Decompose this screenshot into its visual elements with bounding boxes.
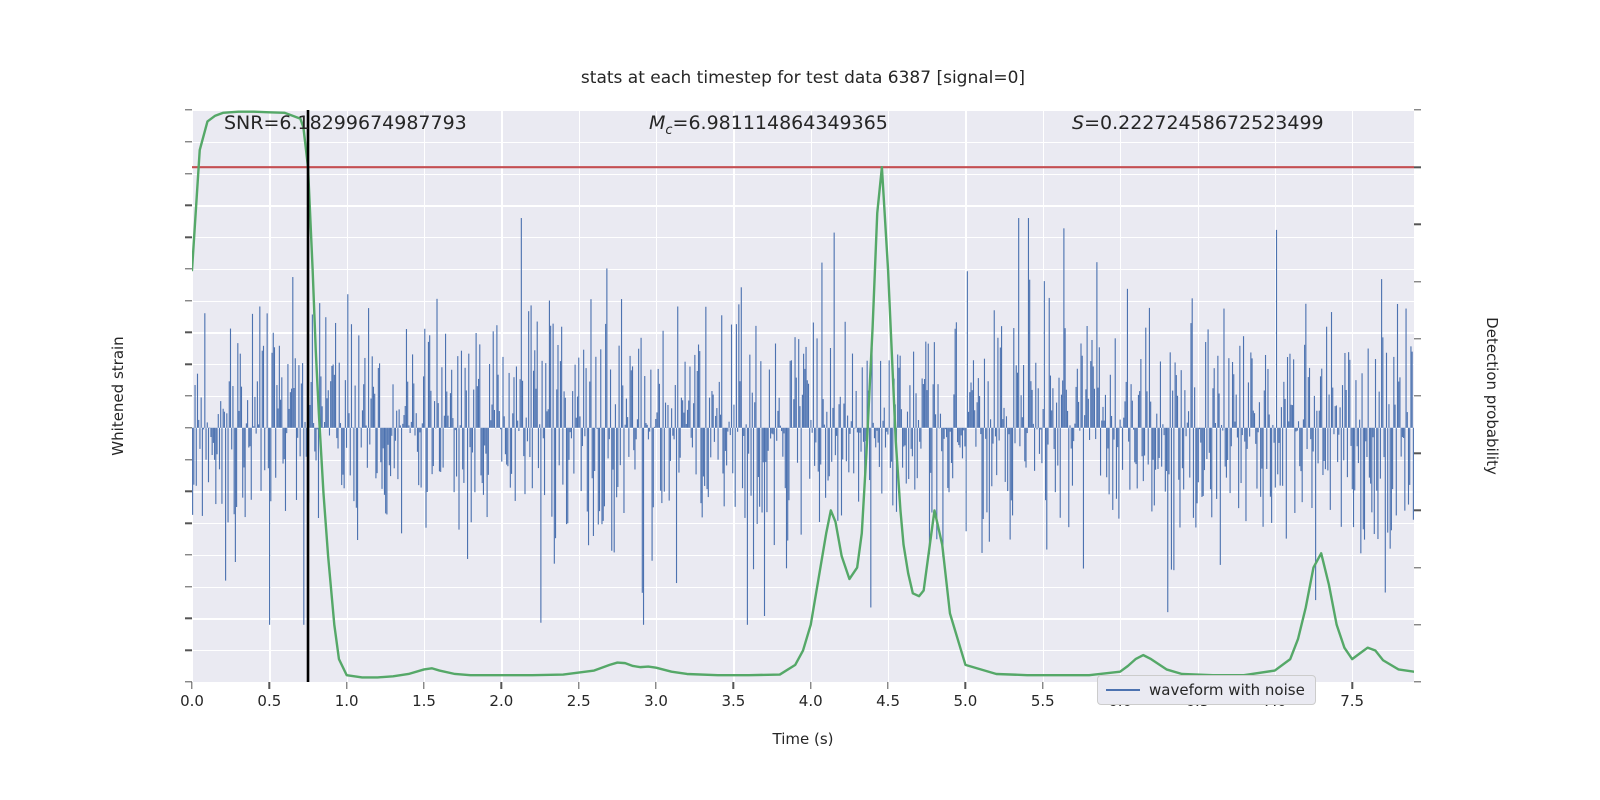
waveform-sample	[1238, 428, 1239, 508]
waveform-sample	[1084, 415, 1085, 428]
waveform-sample	[797, 428, 798, 463]
legend: waveform with noise	[1097, 675, 1316, 705]
waveform-sample	[1138, 395, 1139, 428]
waveform-sample	[731, 325, 732, 428]
waveform-sample	[1093, 366, 1094, 427]
waveform-sample	[485, 428, 486, 454]
waveform-sample	[791, 360, 792, 427]
waveform-sample	[928, 344, 929, 428]
waveform-sample	[1032, 390, 1033, 428]
waveform-sample	[692, 428, 693, 448]
waveform-sample	[641, 338, 642, 428]
waveform-sample	[1198, 428, 1199, 483]
waveform-sample	[606, 268, 607, 427]
waveform-sample	[617, 428, 618, 487]
waveform-sample	[262, 351, 263, 428]
waveform-sample	[1269, 414, 1270, 427]
waveform-sample	[1368, 349, 1369, 428]
waveform-sample	[438, 403, 439, 428]
waveform-sample	[589, 382, 590, 428]
waveform-sample	[962, 428, 963, 459]
waveform-sample	[396, 411, 397, 428]
waveform-sample	[1013, 328, 1014, 428]
waveform-sample	[1090, 361, 1091, 428]
x-tick-label: 1.5	[412, 692, 436, 710]
waveform-sample	[506, 428, 507, 465]
waveform-sample	[1369, 428, 1370, 478]
waveform-sample	[462, 428, 463, 470]
waveform-sample	[1392, 428, 1393, 489]
waveform-sample	[1014, 428, 1015, 443]
waveform-sample	[1264, 390, 1265, 427]
waveform-sample	[1018, 218, 1019, 428]
waveform-sample	[1242, 428, 1243, 435]
waveform-sample	[966, 428, 967, 532]
waveform-sample	[595, 357, 596, 428]
detection-probability-series	[192, 112, 1414, 678]
waveform-sample	[1001, 326, 1002, 428]
waveform-sample	[207, 422, 208, 427]
waveform-sample	[1275, 428, 1276, 488]
waveform-sample	[1085, 389, 1086, 427]
waveform-sample	[1330, 428, 1331, 510]
waveform-sample	[1298, 421, 1299, 428]
waveform-sample	[198, 420, 199, 428]
waveform-sample	[996, 428, 997, 475]
waveform-sample	[1028, 218, 1029, 428]
waveform-sample	[1069, 425, 1070, 427]
waveform-sample	[304, 422, 305, 428]
waveform-sample	[550, 326, 551, 428]
waveform-sample	[1300, 428, 1301, 471]
waveform-sample	[564, 391, 565, 427]
waveform-sample	[946, 428, 947, 437]
waveform-sample	[528, 311, 529, 428]
x-tick-label: 4.0	[799, 692, 823, 710]
waveform-sample	[570, 428, 571, 432]
waveform-sample	[1337, 428, 1338, 462]
waveform-sample	[711, 391, 712, 428]
waveform-sample	[249, 428, 250, 446]
y-tick-right	[1414, 338, 1421, 339]
waveform-sample	[1303, 419, 1304, 427]
waveform-sample	[287, 364, 288, 428]
waveform-sample	[678, 428, 679, 473]
waveform-sample	[724, 428, 725, 507]
waveform-sample	[433, 428, 434, 466]
waveform-sample	[1003, 408, 1004, 428]
waveform-sample	[1122, 428, 1123, 470]
waveform-sample	[390, 428, 391, 476]
waveform-sample	[835, 428, 836, 455]
waveform-sample	[504, 416, 505, 427]
waveform-sample	[964, 428, 965, 447]
waveform-sample	[1402, 428, 1403, 437]
plot-canvas	[192, 110, 1414, 682]
waveform-sample	[780, 426, 781, 428]
waveform-sample	[463, 428, 464, 483]
waveform-sample	[416, 413, 417, 428]
waveform-sample	[614, 428, 615, 553]
waveform-sample	[1223, 309, 1224, 428]
waveform-sample	[770, 428, 771, 439]
waveform-sample	[285, 428, 286, 511]
annotation-s-eq: =	[1084, 112, 1100, 134]
waveform-sample	[451, 370, 452, 428]
waveform-sample	[1219, 394, 1220, 428]
waveform-sample	[363, 384, 364, 428]
waveform-sample	[1112, 428, 1113, 510]
waveform-sample	[495, 428, 496, 429]
waveform-sample	[440, 428, 441, 472]
waveform-sample	[1314, 396, 1315, 428]
waveform-sample	[682, 400, 683, 428]
waveform-sample	[401, 428, 402, 534]
y-tick-left	[185, 300, 192, 301]
waveform-sample	[642, 428, 643, 593]
waveform-sample	[1233, 374, 1234, 428]
waveform-sample	[445, 334, 446, 428]
waveform-sample	[1409, 428, 1410, 485]
waveform-sample	[592, 428, 593, 478]
waveform-sample	[1340, 407, 1341, 427]
waveform-sample	[516, 366, 517, 427]
waveform-sample	[1096, 262, 1097, 428]
waveform-sample	[532, 428, 533, 488]
waveform-sample	[511, 428, 512, 474]
x-tick	[501, 682, 502, 689]
waveform-sample	[1404, 428, 1405, 511]
waveform-sample	[1302, 428, 1303, 502]
waveform-sample	[1206, 428, 1207, 459]
waveform-sample	[414, 428, 415, 436]
waveform-sample	[1289, 354, 1290, 428]
waveform-sample	[1088, 399, 1089, 428]
waveform-sample	[501, 428, 502, 462]
x-tick	[346, 682, 347, 689]
waveform-sample	[1145, 328, 1146, 428]
waveform-sample	[315, 428, 316, 461]
waveform-sample	[460, 425, 461, 428]
waveform-sample	[323, 428, 324, 429]
waveform-sample	[466, 390, 467, 427]
waveform-sample	[394, 428, 395, 469]
waveform-sample	[1250, 352, 1251, 427]
legend-line-icon	[1106, 689, 1140, 691]
waveform-sample	[577, 397, 578, 428]
x-tick-label: 3.5	[721, 692, 745, 710]
waveform-sample	[953, 394, 954, 427]
waveform-sample	[218, 414, 219, 428]
waveform-sample	[546, 411, 547, 427]
waveform-sample	[1178, 428, 1179, 480]
waveform-sample	[1248, 382, 1249, 427]
waveform-sample	[807, 380, 808, 428]
waveform-sample	[224, 412, 225, 428]
waveform-sample	[771, 428, 772, 434]
waveform-sample	[306, 428, 307, 457]
waveform-sample	[1150, 402, 1151, 428]
annotation-mc-label: M	[649, 112, 665, 134]
waveform-sample	[1332, 388, 1333, 428]
waveform-sample	[209, 428, 210, 429]
waveform-sample	[746, 424, 747, 427]
waveform-sample	[1045, 428, 1046, 500]
waveform-sample	[345, 380, 346, 428]
waveform-sample	[736, 324, 737, 428]
waveform-sample	[350, 428, 351, 476]
waveform-sample	[328, 390, 329, 428]
waveform-sample	[814, 428, 815, 466]
waveform-sample	[312, 314, 313, 427]
waveform-sample	[1176, 375, 1177, 428]
waveform-sample	[230, 329, 231, 428]
waveform-sample	[804, 369, 805, 428]
waveform-sample	[355, 386, 356, 428]
waveform-sample	[301, 383, 302, 427]
waveform-sample	[1299, 428, 1300, 466]
waveform-sample	[1280, 428, 1281, 486]
waveform-sample	[240, 354, 241, 428]
waveform-sample	[1255, 428, 1256, 444]
waveform-sample	[992, 428, 993, 444]
waveform-sample	[1387, 428, 1388, 533]
waveform-sample	[1030, 381, 1031, 428]
waveform-sample	[889, 360, 890, 427]
waveform-sample	[975, 428, 976, 447]
waveform-sample	[1205, 342, 1206, 428]
waveform-sample	[1190, 323, 1191, 428]
waveform-sample	[1023, 365, 1024, 428]
waveform-sample	[567, 428, 568, 524]
waveform-sample	[356, 428, 357, 508]
waveform-sample	[744, 428, 745, 518]
waveform-sample	[1296, 428, 1297, 432]
waveform-sample	[1286, 428, 1287, 539]
waveform-sample	[906, 428, 907, 484]
waveform-sample	[661, 428, 662, 503]
waveform-sample	[858, 428, 859, 502]
waveform-sample	[713, 395, 714, 428]
waveform-sample	[248, 428, 249, 448]
waveform-sample	[836, 428, 837, 436]
waveform-sample	[1374, 428, 1375, 534]
waveform-sample	[359, 428, 360, 429]
waveform-sample	[942, 428, 943, 557]
waveform-sample	[805, 347, 806, 428]
waveform-sample	[1276, 230, 1277, 428]
waveform-sample	[347, 294, 348, 428]
waveform-sample	[1209, 428, 1210, 453]
annotation-snr-label: SNR=	[224, 112, 279, 134]
waveform-sample	[1347, 428, 1348, 477]
waveform-sample	[512, 413, 513, 427]
waveform-sample	[648, 428, 649, 440]
waveform-sample	[212, 428, 213, 455]
waveform-sample	[594, 428, 595, 471]
waveform-sample	[947, 428, 948, 488]
waveform-sample	[281, 377, 282, 427]
waveform-sample	[978, 378, 979, 428]
waveform-sample	[902, 428, 903, 468]
waveform-sample	[674, 428, 675, 440]
waveform-sample	[974, 410, 975, 428]
waveform-sample	[549, 301, 550, 428]
waveform-sample	[645, 423, 646, 428]
waveform-sample	[837, 428, 838, 521]
waveform-sample	[665, 403, 666, 428]
waveform-sample	[890, 428, 891, 468]
waveform-sample	[386, 428, 387, 515]
waveform-sample	[1353, 428, 1354, 527]
waveform-sample	[331, 366, 332, 428]
waveform-sample	[801, 428, 802, 535]
waveform-sample	[729, 422, 730, 428]
waveform-sample	[298, 365, 299, 428]
waveform-sample	[208, 428, 209, 482]
waveform-sample	[1247, 428, 1248, 449]
waveform-sample	[361, 428, 362, 448]
waveform-sample	[1249, 428, 1250, 437]
waveform-sample	[1271, 428, 1272, 523]
waveform-sample	[199, 428, 200, 449]
waveform-sample	[870, 428, 871, 608]
waveform-sample	[732, 428, 733, 474]
waveform-sample	[779, 398, 780, 428]
waveform-sample	[1153, 428, 1154, 460]
waveform-sample	[660, 428, 661, 491]
waveform-sample	[473, 390, 474, 428]
waveform-sample	[1111, 416, 1112, 428]
waveform-sample	[1116, 428, 1117, 499]
waveform-sample	[300, 428, 301, 457]
x-tick	[191, 682, 192, 689]
waveform-sample	[1270, 428, 1271, 497]
waveform-sample	[427, 428, 428, 492]
waveform-sample	[544, 428, 545, 495]
waveform-sample	[700, 428, 701, 503]
waveform-sample	[790, 361, 791, 428]
waveform-sample	[719, 382, 720, 428]
annotation-mc-eq: =	[673, 112, 689, 134]
waveform-sample	[1401, 428, 1402, 457]
waveform-sample	[851, 421, 852, 428]
waveform-sample	[1239, 346, 1240, 428]
waveform-sample	[1005, 428, 1006, 482]
waveform-sample	[201, 397, 202, 427]
x-tick-label: 7.5	[1340, 692, 1364, 710]
waveform-sample	[560, 361, 561, 428]
waveform-sample	[1222, 428, 1223, 431]
waveform-sample	[691, 428, 692, 438]
waveform-sample	[990, 419, 991, 428]
waveform-sample	[776, 428, 777, 441]
waveform-sample	[903, 428, 904, 447]
waveform-sample	[709, 398, 710, 428]
waveform-sample	[1365, 428, 1366, 442]
waveform-sample	[812, 428, 813, 433]
x-tick-label: 4.5	[876, 692, 900, 710]
waveform-sample	[878, 428, 879, 443]
waveform-sample	[667, 405, 668, 428]
waveform-sample	[620, 428, 621, 465]
waveform-sample	[1307, 428, 1308, 449]
waveform-sample	[599, 428, 600, 511]
waveform-sample	[510, 428, 511, 488]
x-tick	[269, 682, 270, 689]
waveform-sample	[1326, 327, 1327, 428]
waveform-sample	[1062, 380, 1063, 427]
waveform-sample	[1292, 405, 1293, 428]
waveform-sample	[913, 352, 914, 428]
waveform-sample	[1188, 411, 1189, 428]
waveform-sample	[392, 384, 393, 427]
waveform-sample	[802, 395, 803, 428]
waveform-sample	[219, 428, 220, 470]
waveform-sample	[517, 421, 518, 428]
waveform-sample	[1266, 428, 1267, 469]
waveform-sample	[1087, 326, 1088, 428]
waveform-sample	[259, 306, 260, 427]
waveform-sample	[632, 366, 633, 427]
y-tick-right	[1414, 166, 1421, 167]
waveform-sample	[278, 408, 279, 427]
waveform-sample	[1258, 428, 1259, 433]
waveform-sample	[220, 401, 221, 428]
waveform-sample	[1297, 428, 1298, 431]
waveform-sample	[1132, 401, 1133, 428]
waveform-sample	[410, 428, 411, 433]
waveform-sample	[534, 350, 535, 428]
waveform-sample	[1104, 421, 1105, 428]
waveform-sample	[269, 428, 270, 625]
waveform-sample	[1039, 428, 1040, 454]
waveform-sample	[945, 428, 946, 429]
waveform-sample	[1079, 428, 1080, 431]
waveform-sample	[1133, 428, 1134, 430]
waveform-sample	[1043, 409, 1044, 428]
waveform-sample	[718, 428, 719, 460]
y-tick-left	[185, 459, 192, 460]
waveform-sample	[608, 428, 609, 459]
waveform-sample	[368, 308, 369, 428]
waveform-sample	[1305, 304, 1306, 428]
waveform-sample	[1197, 428, 1198, 504]
waveform-sample	[454, 428, 455, 492]
waveform-sample	[735, 428, 736, 507]
waveform-sample	[425, 428, 426, 528]
waveform-sample	[364, 358, 365, 428]
waveform-sample	[1127, 289, 1128, 428]
waveform-sample	[353, 428, 354, 501]
waveform-sample	[253, 426, 254, 427]
y-tick-left	[185, 395, 192, 396]
waveform-sample	[1010, 428, 1011, 540]
waveform-sample	[1061, 395, 1062, 428]
y-tick-left	[185, 554, 192, 555]
waveform-sample	[1109, 428, 1110, 495]
waveform-sample	[827, 428, 828, 481]
x-tick-label: 2.0	[489, 692, 513, 710]
waveform-sample	[309, 405, 310, 428]
waveform-sample	[1281, 407, 1282, 428]
waveform-sample	[196, 428, 197, 486]
waveform-sample	[535, 389, 536, 428]
waveform-sample	[1007, 428, 1008, 491]
waveform-sample	[1352, 428, 1353, 489]
x-tick	[810, 682, 811, 689]
waveform-sample	[600, 349, 601, 427]
